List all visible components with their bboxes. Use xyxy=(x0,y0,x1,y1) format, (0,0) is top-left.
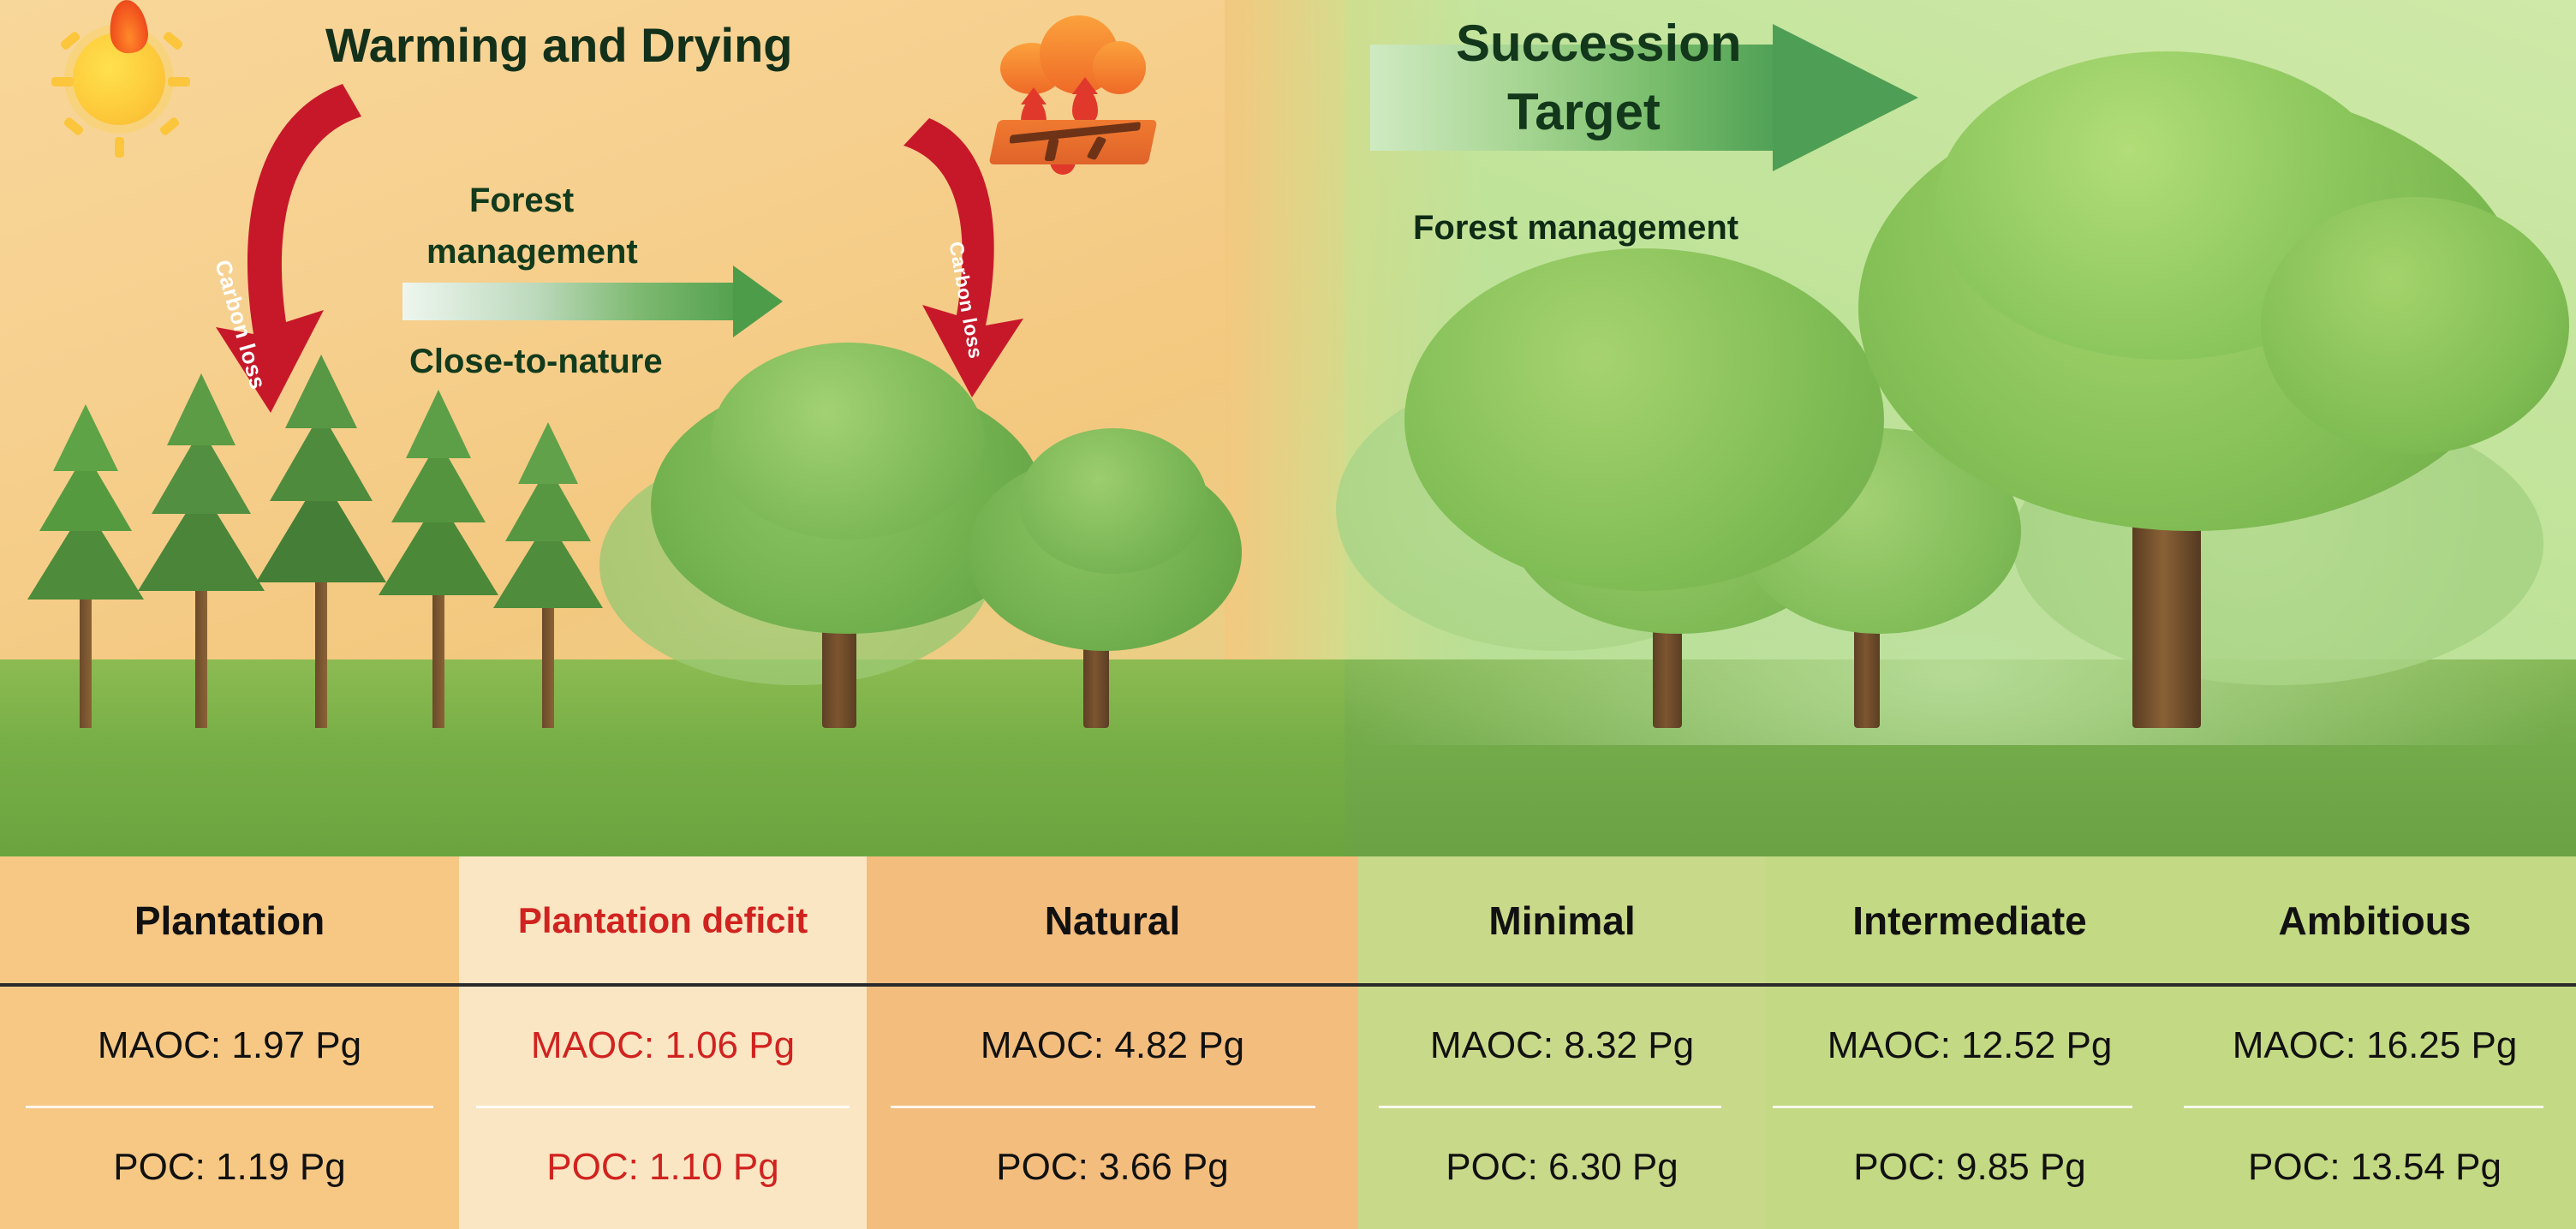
poc-cell: POC: 13.54 Pg xyxy=(2173,1107,2576,1228)
succession-arrow-head xyxy=(1773,24,1918,171)
illustration-scene: Carbon loss Carbon loss Forest managemen… xyxy=(0,0,2576,856)
poc-cell: POC: 1.10 Pg xyxy=(459,1107,867,1228)
conifer-tree xyxy=(26,437,146,728)
carbon-loss-arrow-1: Carbon loss xyxy=(214,77,402,420)
management-label-line1: Forest xyxy=(469,182,574,220)
conifer-tree xyxy=(492,454,604,728)
maoc-cell: MAOC: 4.82 Pg xyxy=(867,985,1358,1107)
warming-drying-title: Warming and Drying xyxy=(325,17,793,73)
succession-subtitle: Forest management xyxy=(1413,209,1738,248)
poc-cell: POC: 1.19 Pg xyxy=(0,1107,459,1228)
row-divider xyxy=(1379,1106,1721,1108)
poc-cell: POC: 3.66 Pg xyxy=(867,1107,1358,1228)
row-divider xyxy=(1773,1106,2132,1108)
row-divider xyxy=(26,1106,433,1108)
table-column-intermediate: Intermediate MAOC: 12.52 Pg POC: 9.85 Pg xyxy=(1766,856,2173,1229)
maoc-cell: MAOC: 16.25 Pg xyxy=(2173,985,2576,1107)
column-header-line2: deficit xyxy=(702,902,808,940)
table-column-plantation: Plantation MAOC: 1.97 Pg POC: 1.19 Pg xyxy=(0,856,459,1229)
management-label-line2: management xyxy=(426,233,638,271)
carbon-loss-arrow-2: Carbon loss xyxy=(878,111,1041,403)
conifer-tree xyxy=(379,420,498,728)
management-arrow-head xyxy=(733,265,783,337)
tree-canopy xyxy=(1019,428,1207,574)
maoc-cell: MAOC: 8.32 Pg xyxy=(1358,985,1766,1107)
table-column-minimal: Minimal MAOC: 8.32 Pg POC: 6.30 Pg xyxy=(1358,856,1766,1229)
maoc-cell: MAOC: 12.52 Pg xyxy=(1766,985,2173,1107)
row-divider xyxy=(2184,1106,2543,1108)
column-header: Plantation xyxy=(0,856,459,985)
column-header: Plantation deficit xyxy=(459,856,867,985)
column-header: Ambitious xyxy=(2173,856,2576,985)
header-rule xyxy=(0,983,2576,987)
row-divider xyxy=(891,1106,1315,1108)
row-divider xyxy=(476,1106,850,1108)
management-gradient-arrow xyxy=(402,283,736,320)
poc-cell: POC: 9.85 Pg xyxy=(1766,1107,2173,1228)
column-header: Intermediate xyxy=(1766,856,2173,985)
column-header: Natural xyxy=(867,856,1358,985)
maoc-cell: MAOC: 1.97 Pg xyxy=(0,985,459,1107)
succession-title-line2: Target xyxy=(1507,82,1661,141)
tree-canopy xyxy=(1404,248,1884,591)
hero-tree-canopy xyxy=(2261,197,2569,454)
scenario-table: Plantation MAOC: 1.97 Pg POC: 1.19 Pg Pl… xyxy=(0,856,2576,1229)
column-header-line1: Plantation xyxy=(518,902,692,940)
poc-cell: POC: 6.30 Pg xyxy=(1358,1107,1766,1228)
succession-title-line1: Succession xyxy=(1456,14,1742,73)
conifer-tree xyxy=(257,385,385,728)
column-header: Minimal xyxy=(1358,856,1766,985)
table-column-plantation-deficit: Plantation deficit MAOC: 1.06 Pg POC: 1.… xyxy=(459,856,867,1229)
management-label-line3: Close-to-nature xyxy=(409,343,663,381)
table-column-ambitious: Ambitious MAOC: 16.25 Pg POC: 13.54 Pg xyxy=(2173,856,2576,1229)
table-column-natural: Natural MAOC: 4.82 Pg POC: 3.66 Pg xyxy=(867,856,1358,1229)
infographic-root: Carbon loss Carbon loss Forest managemen… xyxy=(0,0,2576,1229)
maoc-cell: MAOC: 1.06 Pg xyxy=(459,985,867,1107)
conifer-tree xyxy=(137,403,265,728)
